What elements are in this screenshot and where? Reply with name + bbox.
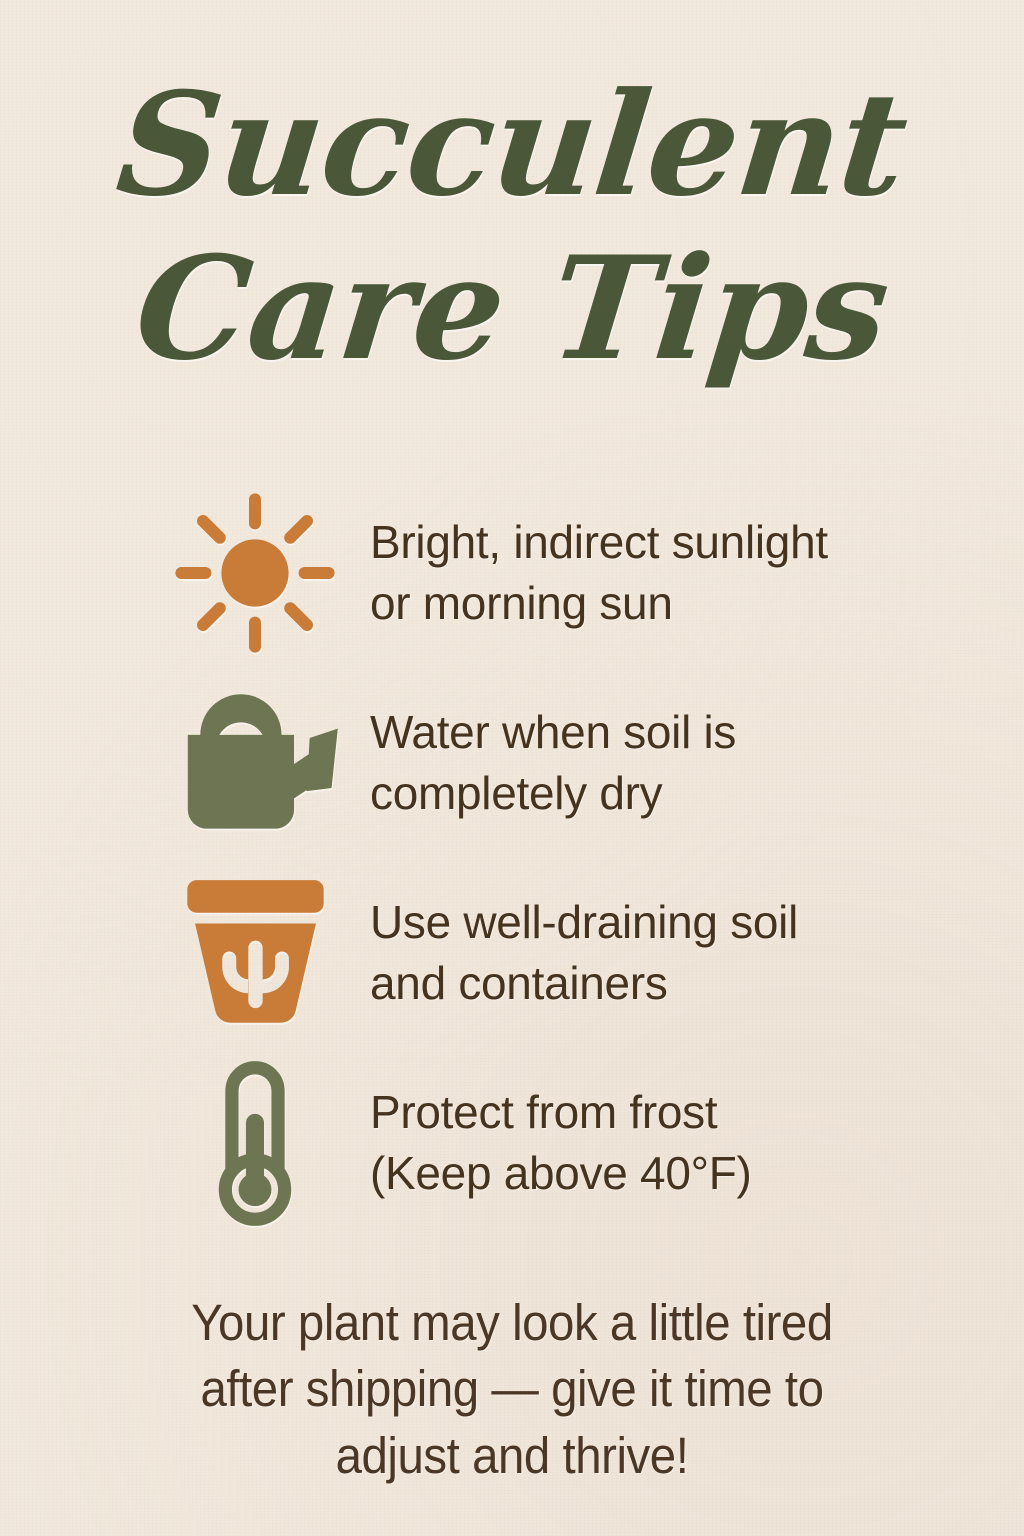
tip-text: Protect from frost (Keep above 40°F) [370,1082,752,1203]
plant-pot-icon [140,877,370,1029]
tip-text-line-2: and containers [370,953,798,1014]
page-title: Succulent Care Tips [0,74,1024,380]
title-line-2: Care Tips [0,238,1024,380]
care-tips-list: Bright, indirect sunlight or morning sun [0,478,1024,1238]
tip-text-line-1: Water when soil is [370,706,736,758]
footer-note-line-3: adjust and thrive! [36,1423,988,1489]
tip-text-line-1: Protect from frost [370,1086,717,1138]
footer-note: Your plant may look a little tired after… [36,1290,988,1489]
tip-text-line-2: or morning sun [370,573,828,634]
tip-text: Water when soil is completely dry [370,702,736,823]
title-line-1: Succulent [0,74,1024,216]
tip-text-line-2: (Keep above 40°F) [370,1143,752,1204]
thermometer-icon [140,1061,370,1226]
tip-text-line-1: Use well-draining soil [370,896,798,948]
sun-icon [140,493,370,653]
tip-row: Use well-draining soil and containers [0,858,1024,1048]
watering-can-icon [140,688,370,838]
succulent-care-tips-poster: Succulent Care Tips [0,0,1024,1536]
tip-text-line-2: completely dry [370,763,736,824]
footer-note-line-2: after shipping — give it time to [36,1356,988,1422]
tip-row: Water when soil is completely dry [0,668,1024,858]
footer-note-line-1: Your plant may look a little tired [36,1290,988,1356]
tip-row: Bright, indirect sunlight or morning sun [0,478,1024,668]
tip-text: Bright, indirect sunlight or morning sun [370,512,828,633]
tip-text: Use well-draining soil and containers [370,892,798,1013]
tip-text-line-1: Bright, indirect sunlight [370,516,828,568]
tip-row: Protect from frost (Keep above 40°F) [0,1048,1024,1238]
